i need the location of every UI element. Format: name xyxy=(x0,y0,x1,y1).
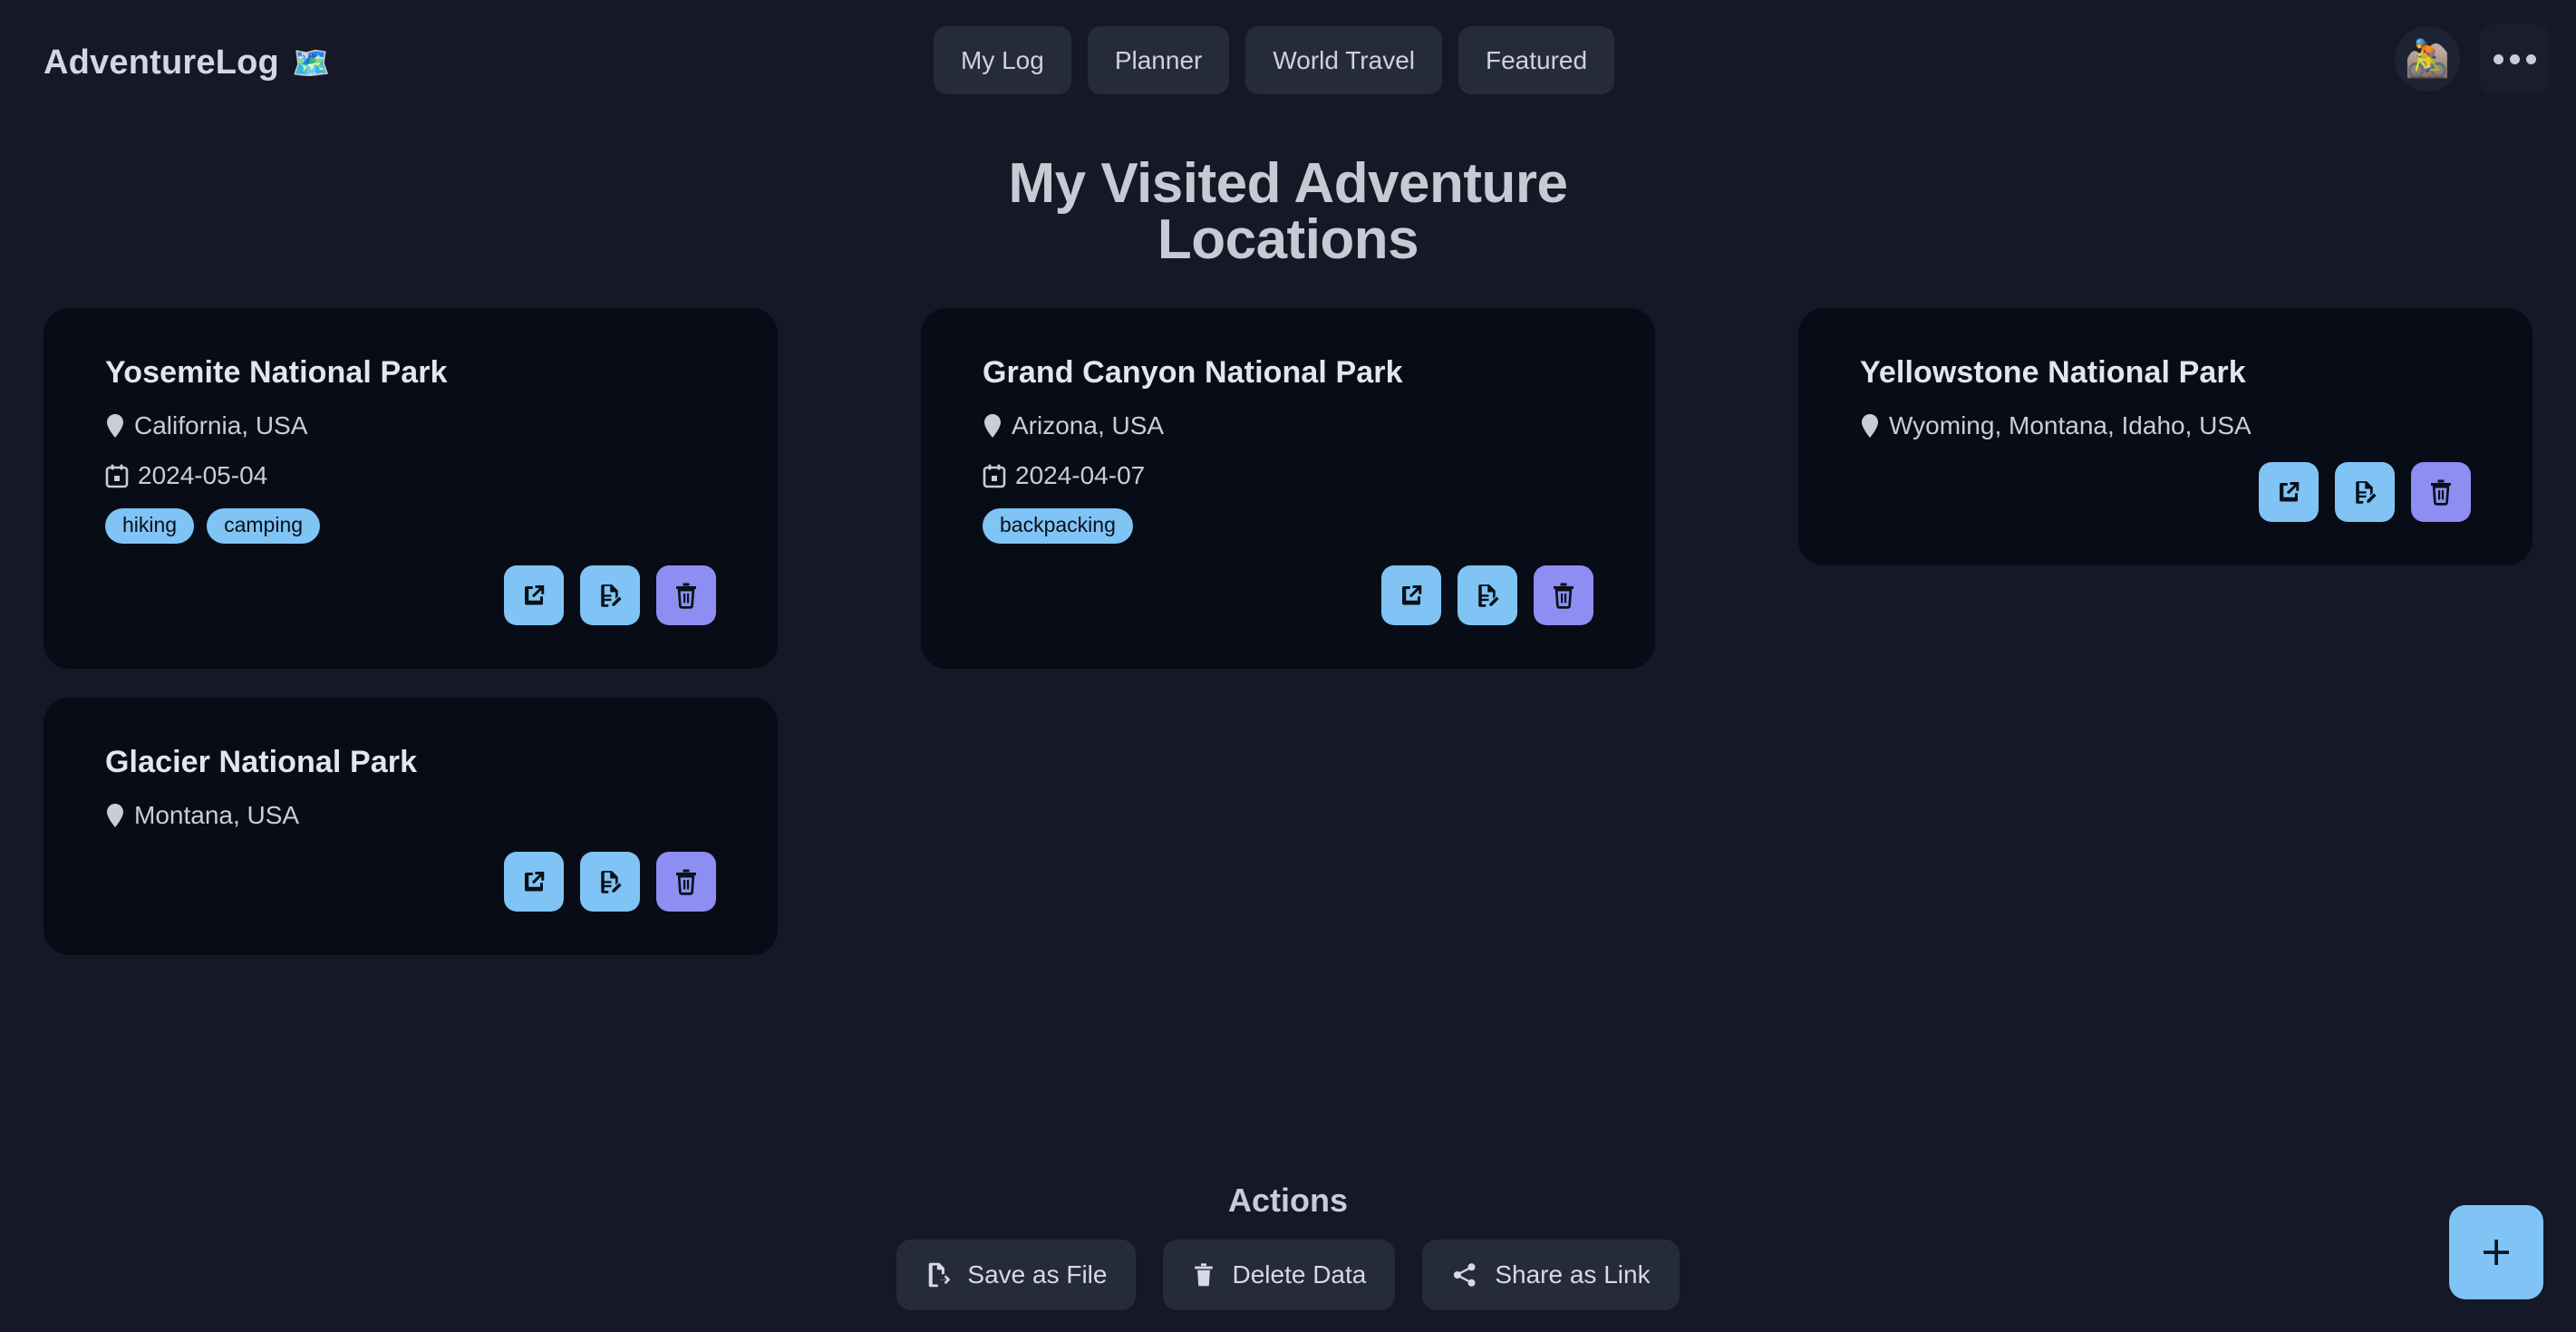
map-pin-icon xyxy=(1860,413,1880,439)
location-card[interactable]: Glacier National Park Montana, USA xyxy=(44,698,778,955)
main-nav: My Log Planner World Travel Featured xyxy=(934,26,1614,94)
file-edit-icon xyxy=(596,582,624,609)
external-link-icon xyxy=(1398,582,1425,609)
delete-entry-button[interactable] xyxy=(2411,462,2471,522)
delete-data-label: Delete Data xyxy=(1232,1260,1366,1289)
edit-entry-button[interactable] xyxy=(580,565,640,625)
location-card[interactable]: Grand Canyon National Park Arizona, USA … xyxy=(921,308,1655,669)
avatar[interactable]: 🚵 xyxy=(2395,26,2460,92)
tab-featured[interactable]: Featured xyxy=(1458,26,1614,94)
trash-icon xyxy=(673,582,699,609)
add-location-button[interactable] xyxy=(2449,1205,2543,1299)
location-date: 2024-04-07 xyxy=(983,461,1593,490)
tab-world-travel[interactable]: World Travel xyxy=(1245,26,1442,94)
file-edit-icon xyxy=(2351,478,2378,506)
edit-entry-button[interactable] xyxy=(1457,565,1517,625)
delete-entry-button[interactable] xyxy=(656,565,716,625)
open-external-button[interactable] xyxy=(504,565,564,625)
location-region-label: Wyoming, Montana, Idaho, USA xyxy=(1889,411,2252,440)
calendar-icon xyxy=(983,463,1006,488)
external-link-icon xyxy=(520,868,547,895)
ellipsis-icon-dot xyxy=(2526,54,2536,64)
file-export-icon xyxy=(925,1261,951,1289)
external-link-icon xyxy=(520,582,547,609)
actions-section: Actions Save as File Delete Data xyxy=(0,1182,2576,1310)
tag-chip[interactable]: hiking xyxy=(105,508,194,544)
open-external-button[interactable] xyxy=(2259,462,2319,522)
page-title: My Visited Adventure Locations xyxy=(930,156,1646,268)
tab-planner[interactable]: Planner xyxy=(1088,26,1230,94)
ellipsis-icon-dot xyxy=(2494,54,2503,64)
brand-label: AdventureLog xyxy=(44,43,279,82)
location-date-label: 2024-04-07 xyxy=(1015,461,1145,490)
edit-entry-button[interactable] xyxy=(580,852,640,912)
trash-icon xyxy=(1192,1261,1215,1289)
edit-entry-button[interactable] xyxy=(2335,462,2395,522)
save-as-file-label: Save as File xyxy=(967,1260,1107,1289)
trash-icon xyxy=(2428,478,2454,506)
card-action-row xyxy=(105,852,716,912)
top-bar-right: 🚵 xyxy=(2395,24,2549,93)
trash-icon xyxy=(1551,582,1576,609)
top-bar: AdventureLog 🗺️ My Log Planner World Tra… xyxy=(0,0,2576,134)
external-link-icon xyxy=(2275,478,2302,506)
location-date: 2024-05-04 xyxy=(105,461,716,490)
actions-row: Save as File Delete Data Share as Link xyxy=(0,1240,2576,1310)
location-region: California, USA xyxy=(105,411,716,440)
location-title: Glacier National Park xyxy=(105,745,716,780)
trash-icon xyxy=(673,868,699,895)
open-external-button[interactable] xyxy=(504,852,564,912)
location-region-label: California, USA xyxy=(134,411,307,440)
location-region-label: Montana, USA xyxy=(134,801,299,830)
cyclist-icon: 🚵 xyxy=(2405,41,2450,77)
location-card[interactable]: Yosemite National Park California, USA 2… xyxy=(44,308,778,669)
location-date-label: 2024-05-04 xyxy=(138,461,267,490)
tag-chip[interactable]: camping xyxy=(207,508,320,544)
location-region: Montana, USA xyxy=(105,801,716,830)
map-pin-icon xyxy=(105,803,125,828)
share-as-link-button[interactable]: Share as Link xyxy=(1422,1240,1679,1310)
location-title: Yosemite National Park xyxy=(105,355,716,391)
location-region: Wyoming, Montana, Idaho, USA xyxy=(1860,411,2471,440)
locations-grid: Yosemite National Park California, USA 2… xyxy=(44,308,2532,955)
calendar-icon xyxy=(105,463,129,488)
delete-data-button[interactable]: Delete Data xyxy=(1163,1240,1395,1310)
map-pin-icon xyxy=(105,413,125,439)
location-card[interactable]: Yellowstone National Park Wyoming, Monta… xyxy=(1798,308,2532,565)
actions-title: Actions xyxy=(0,1182,2576,1220)
location-title: Grand Canyon National Park xyxy=(983,355,1593,391)
overflow-menu-button[interactable] xyxy=(2480,24,2549,93)
tag-list: backpacking xyxy=(983,508,1593,544)
location-region: Arizona, USA xyxy=(983,411,1593,440)
delete-entry-button[interactable] xyxy=(1534,565,1593,625)
tab-my-log[interactable]: My Log xyxy=(934,26,1071,94)
open-external-button[interactable] xyxy=(1381,565,1441,625)
card-action-row xyxy=(1860,462,2471,522)
map-pin-icon xyxy=(983,413,1002,439)
world-map-icon: 🗺️ xyxy=(292,48,331,79)
file-edit-icon xyxy=(1474,582,1501,609)
ellipsis-icon-dot xyxy=(2510,54,2520,64)
delete-entry-button[interactable] xyxy=(656,852,716,912)
location-region-label: Arizona, USA xyxy=(1012,411,1164,440)
location-title: Yellowstone National Park xyxy=(1860,355,2471,391)
card-action-row xyxy=(983,565,1593,625)
app-brand[interactable]: AdventureLog 🗺️ xyxy=(44,43,331,82)
plus-icon xyxy=(2477,1233,2515,1271)
tag-list: hiking camping xyxy=(105,508,716,544)
tag-chip[interactable]: backpacking xyxy=(983,508,1133,544)
file-edit-icon xyxy=(596,868,624,895)
share-icon xyxy=(1451,1261,1478,1289)
card-action-row xyxy=(105,565,716,625)
share-as-link-label: Share as Link xyxy=(1495,1260,1650,1289)
save-as-file-button[interactable]: Save as File xyxy=(896,1240,1136,1310)
